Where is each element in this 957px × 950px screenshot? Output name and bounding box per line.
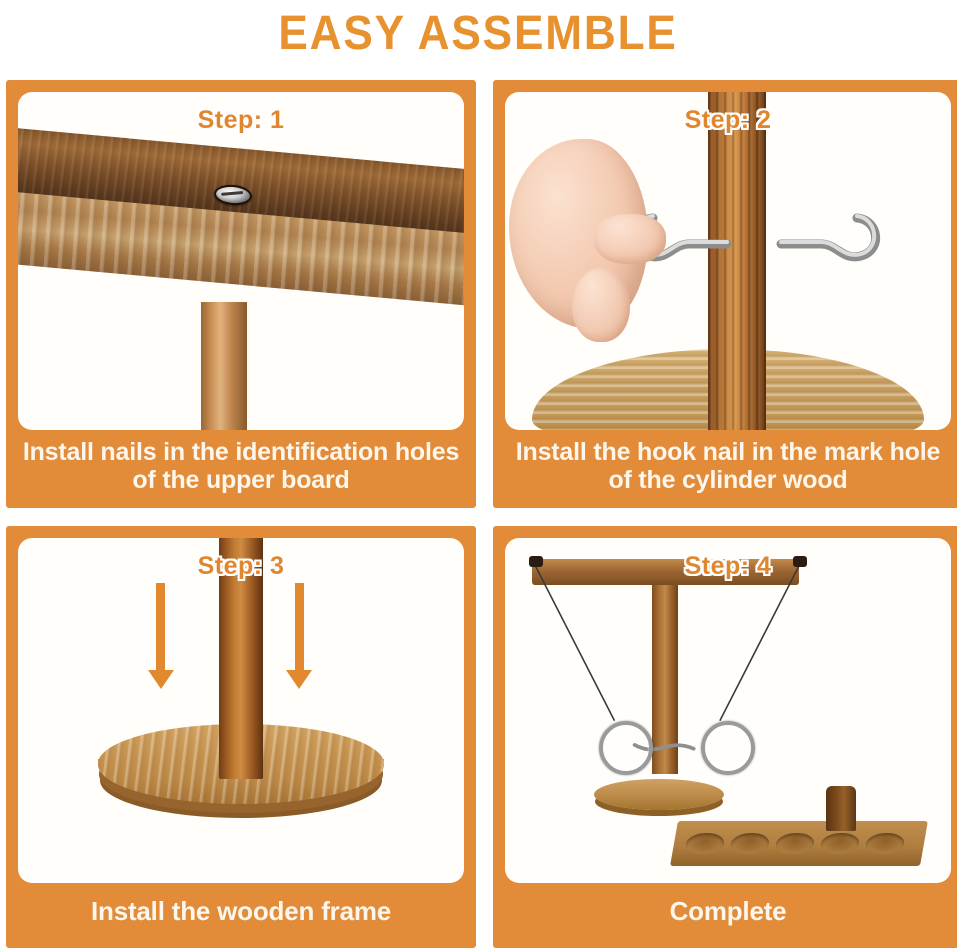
down-arrow-right-icon: [295, 583, 304, 673]
tray-wooden-post: [826, 786, 856, 831]
step-card-3: Step: 3 Install the wooden frame: [6, 526, 476, 948]
step-card-4: Step: 4 Complete: [493, 526, 957, 948]
support-pole: [201, 302, 247, 430]
step-card-2: Step: 2 Install the hook nail in the mar…: [493, 80, 957, 508]
down-arrow-left-icon: [156, 583, 165, 673]
shot-glass-tray: [671, 821, 929, 866]
tray-hole-2: [730, 832, 771, 854]
step-3-illustration: Step: 3: [18, 538, 464, 883]
step-4-illustration: Step: 4: [505, 538, 951, 883]
tray-hole-5: [865, 832, 906, 854]
s-hook-right-icon: [773, 204, 903, 284]
step-3-label: Step: 3: [18, 552, 464, 581]
step-1-illustration: Step: 1: [18, 92, 464, 430]
step-4-label: Step: 4: [505, 552, 951, 581]
page-title: EASY ASSEMBLE: [279, 10, 678, 58]
step-1-label: Step: 1: [18, 106, 464, 135]
index-finger: [594, 214, 665, 265]
step-2-illustration: Step: 2: [505, 92, 951, 430]
page-header: EASY ASSEMBLE: [0, 0, 957, 68]
step-card-1: Step: 1 Install nails in the identificat…: [6, 80, 476, 508]
thumb: [572, 268, 630, 342]
step-3-caption: Install the wooden frame: [18, 883, 464, 948]
step-2-label: Step: 2: [505, 106, 951, 135]
metal-ring-left: [599, 721, 653, 775]
steps-grid: Step: 1 Install nails in the identificat…: [0, 70, 957, 950]
step-2-caption: Install the hook nail in the mark hole o…: [505, 430, 951, 508]
tray-hole-4: [820, 832, 861, 854]
tray-hole-1: [685, 832, 726, 854]
step-1-caption: Install nails in the identification hole…: [18, 430, 464, 508]
step-4-caption: Complete: [505, 883, 951, 948]
tray-hole-3: [775, 832, 816, 854]
metal-ring-right: [701, 721, 755, 775]
